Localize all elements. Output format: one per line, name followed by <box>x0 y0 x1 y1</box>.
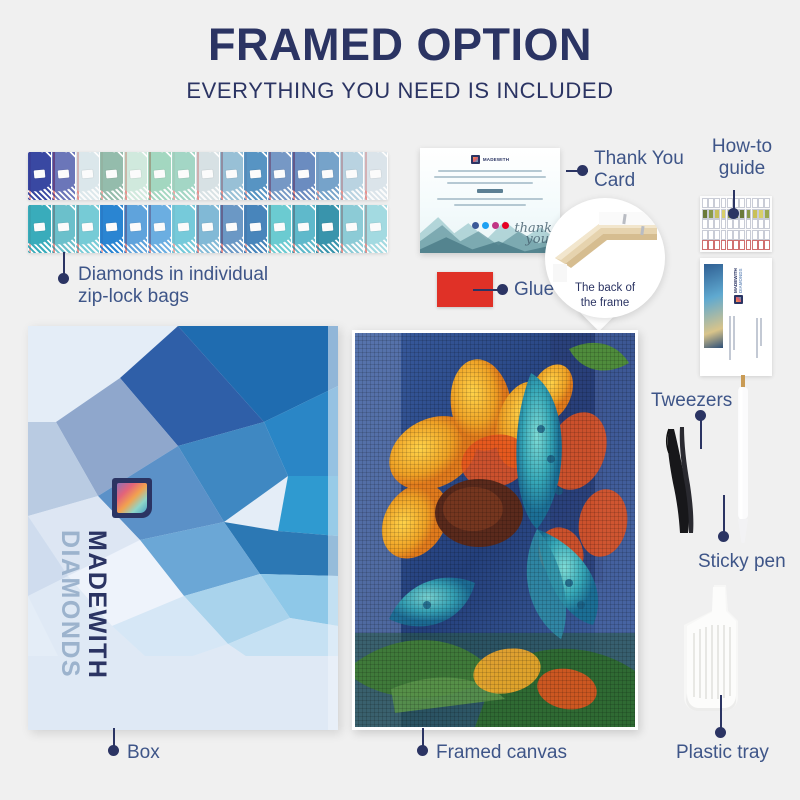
diamond-bag <box>52 205 76 253</box>
legend-cell <box>708 240 714 250</box>
diamond-logo-icon <box>112 478 152 518</box>
legend-cell <box>708 219 714 229</box>
legend-cell <box>752 198 758 208</box>
legend-cell <box>758 230 764 240</box>
leader-dot-thankyou <box>577 165 588 176</box>
callout-sticky-pen: Sticky pen <box>698 551 786 573</box>
legend-cell <box>758 198 764 208</box>
diamond-bag <box>100 205 124 253</box>
frame-corner-photo <box>553 212 657 282</box>
diamond-bag <box>340 205 364 253</box>
diamond-bag <box>172 205 196 253</box>
diamond-bag <box>148 205 172 253</box>
diamond-beads <box>316 152 339 200</box>
framed-canvas <box>352 330 638 730</box>
diamond-bag <box>316 152 340 200</box>
leader-dot-canvas <box>417 745 428 756</box>
diamond-beads <box>76 205 99 253</box>
diamond-painting-mosaic <box>355 333 635 727</box>
canvas-artwork <box>355 333 635 727</box>
callout-tweezers-line1: Tweezers <box>651 390 732 412</box>
legend-cell <box>714 209 720 219</box>
legend-cell <box>746 198 752 208</box>
diamond-beads <box>52 152 75 200</box>
infographic-stage: FRAMED OPTION EVERYTHING YOU NEED IS INC… <box>0 0 800 800</box>
bubble-caption: The back of the frame <box>545 281 665 310</box>
diamond-beads <box>172 205 195 253</box>
leader-dot-glue <box>497 284 508 295</box>
callout-diamonds-line2: zip-lock bags <box>78 286 298 308</box>
diamond-bag <box>340 152 364 200</box>
diamond-bag-row-top <box>28 152 388 200</box>
diamond-bag <box>292 152 316 200</box>
callout-framed-canvas: Framed canvas <box>436 742 567 764</box>
legend-cell <box>746 219 752 229</box>
diamond-beads <box>100 152 123 200</box>
diamond-bag <box>244 205 268 253</box>
diamond-bag <box>244 152 268 200</box>
legend-cell <box>721 219 727 229</box>
legend-cell <box>746 240 752 250</box>
legend-cell <box>721 240 727 250</box>
diamond-beads <box>148 152 171 200</box>
diamond-beads <box>52 205 75 253</box>
diamond-bag <box>268 205 292 253</box>
diamond-beads <box>268 152 291 200</box>
diamond-beads <box>196 205 219 253</box>
legend-cell <box>708 209 714 219</box>
diamond-beads <box>292 152 315 200</box>
legend-cell <box>733 240 739 250</box>
diamond-beads <box>316 205 339 253</box>
legend-cell <box>714 230 720 240</box>
legend-cell <box>702 209 708 219</box>
legend-cell <box>752 219 758 229</box>
callout-tweezers: Tweezers <box>651 390 732 412</box>
diamond-beads <box>364 152 387 200</box>
leader-dot-diamonds <box>58 273 69 284</box>
callout-how-to-guide: How-to guide <box>697 136 787 180</box>
callout-thankyou-line1: Thank You <box>594 148 694 170</box>
diamond-beads <box>76 152 99 200</box>
leader-line-pen <box>723 495 725 535</box>
diamond-bag <box>100 152 124 200</box>
diamond-bag <box>268 152 292 200</box>
legend-cell <box>721 230 727 240</box>
diamond-beads <box>28 205 51 253</box>
brand-name-secondary: DIAMONDS <box>57 530 84 679</box>
diamond-bag <box>76 152 100 200</box>
legend-cell <box>739 230 745 240</box>
callout-thank-you-card: Thank You Card <box>594 148 694 192</box>
legend-cell <box>758 240 764 250</box>
card-discount-code <box>477 189 503 193</box>
callout-canvas-line1: Framed canvas <box>436 742 567 764</box>
diamond-bag <box>124 152 148 200</box>
diamond-beads <box>364 205 387 253</box>
legend-cell <box>764 198 770 208</box>
diamond-beads <box>244 205 267 253</box>
legend-cell <box>739 209 745 219</box>
diamond-beads <box>196 152 219 200</box>
callout-thankyou-line2: Card <box>594 170 694 192</box>
diamond-bag <box>52 152 76 200</box>
legend-cell <box>764 209 770 219</box>
diamond-bag <box>196 205 220 253</box>
leader-dot-box <box>108 745 119 756</box>
legend-cell <box>714 198 720 208</box>
guide-instruction-sheet: MADEWITHDIAMONDS <box>700 258 772 376</box>
diamond-logo-icon <box>734 295 743 304</box>
sticky-pen-item <box>735 375 751 545</box>
legend-cell <box>758 219 764 229</box>
legend-cell <box>746 209 752 219</box>
diamond-bag <box>316 205 340 253</box>
guide-preview-image <box>704 264 723 348</box>
diamond-beads <box>340 205 363 253</box>
diamond-bag <box>364 205 388 253</box>
callout-pen-line1: Sticky pen <box>698 551 786 573</box>
diamond-beads <box>124 205 147 253</box>
page-subtitle: EVERYTHING YOU NEED IS INCLUDED <box>0 80 800 102</box>
legend-cell <box>746 230 752 240</box>
leader-line-tweezers <box>700 417 702 449</box>
thank-you-card: MADEWITH thank you <box>420 148 560 253</box>
legend-cell <box>702 230 708 240</box>
diamond-beads <box>220 205 243 253</box>
legend-cell <box>739 219 745 229</box>
diamond-bag <box>124 205 148 253</box>
callout-box-line1: Box <box>127 742 160 764</box>
legend-cell <box>702 219 708 229</box>
legend-cell <box>752 209 758 219</box>
legend-cell <box>702 240 708 250</box>
how-to-guide-item: MADEWITHDIAMONDS <box>700 196 772 376</box>
diamond-bag <box>220 205 244 253</box>
guide-logo: MADEWITHDIAMONDS <box>734 268 744 304</box>
legend-cell <box>708 198 714 208</box>
legend-cell <box>702 198 708 208</box>
diamond-beads <box>100 205 123 253</box>
diamond-beads <box>268 205 291 253</box>
legend-cell <box>727 230 733 240</box>
diamond-beads <box>340 152 363 200</box>
diamond-bag <box>28 152 52 200</box>
diamond-bag <box>172 152 196 200</box>
legend-cell <box>733 230 739 240</box>
callout-plastic-tray: Plastic tray <box>676 742 769 764</box>
legend-cell <box>739 198 745 208</box>
frame-back-bubble: The back of the frame <box>545 198 665 318</box>
leader-dot-pen <box>718 531 729 542</box>
diamond-logo-icon <box>471 155 480 164</box>
diamond-bag <box>28 205 52 253</box>
leader-dot-tray <box>715 727 726 738</box>
diamond-bag <box>292 205 316 253</box>
facebook-icon <box>472 222 479 229</box>
twitter-icon <box>482 222 489 229</box>
legend-cell <box>721 198 727 208</box>
page-title: FRAMED OPTION <box>0 22 800 67</box>
diamond-bag <box>148 152 172 200</box>
legend-cell <box>752 240 758 250</box>
card-message-lines <box>430 170 550 210</box>
legend-cell <box>727 219 733 229</box>
legend-cell <box>721 209 727 219</box>
diamond-bag-row-bottom <box>28 205 388 253</box>
legend-cell <box>752 230 758 240</box>
diamond-bag <box>220 152 244 200</box>
callout-guide-line1: How-to <box>697 136 787 158</box>
box-brand-text: MADEWITH DIAMONDS <box>57 530 110 679</box>
pinterest-icon <box>502 222 509 229</box>
diamond-beads <box>220 152 243 200</box>
diamond-beads <box>292 205 315 253</box>
legend-cell <box>733 219 739 229</box>
callout-box: Box <box>127 742 160 764</box>
callout-tray-line1: Plastic tray <box>676 742 769 764</box>
guide-color-legend <box>700 196 772 252</box>
diamond-beads <box>124 152 147 200</box>
box-logo-wrap <box>112 478 152 518</box>
diamond-beads <box>28 152 51 200</box>
legend-cell <box>739 240 745 250</box>
legend-cell <box>758 209 764 219</box>
guide-logo-text: MADEWITHDIAMONDS <box>734 268 744 293</box>
callout-guide-line2: guide <box>697 158 787 180</box>
diamond-beads <box>148 205 171 253</box>
callout-diamonds: Diamonds in individual zip-lock bags <box>78 264 298 308</box>
diamond-bag <box>196 152 220 200</box>
diamond-bag <box>76 205 100 253</box>
diamond-beads <box>172 152 195 200</box>
callout-diamonds-line1: Diamonds in individual <box>78 264 298 286</box>
card-logo-text: MADEWITH <box>483 157 509 162</box>
legend-cell <box>708 230 714 240</box>
instagram-icon <box>492 222 499 229</box>
diamond-bag <box>364 152 388 200</box>
legend-cell <box>727 198 733 208</box>
diamond-beads <box>244 152 267 200</box>
legend-cell <box>727 240 733 250</box>
legend-cell <box>714 219 720 229</box>
legend-cell <box>764 219 770 229</box>
leader-line-tray <box>720 695 722 731</box>
legend-cell <box>714 240 720 250</box>
leader-dot-guide <box>728 208 739 219</box>
legend-cell <box>764 240 770 250</box>
legend-cell <box>764 230 770 240</box>
card-logo: MADEWITH <box>420 155 560 164</box>
brand-name-primary: MADEWITH <box>84 530 111 679</box>
